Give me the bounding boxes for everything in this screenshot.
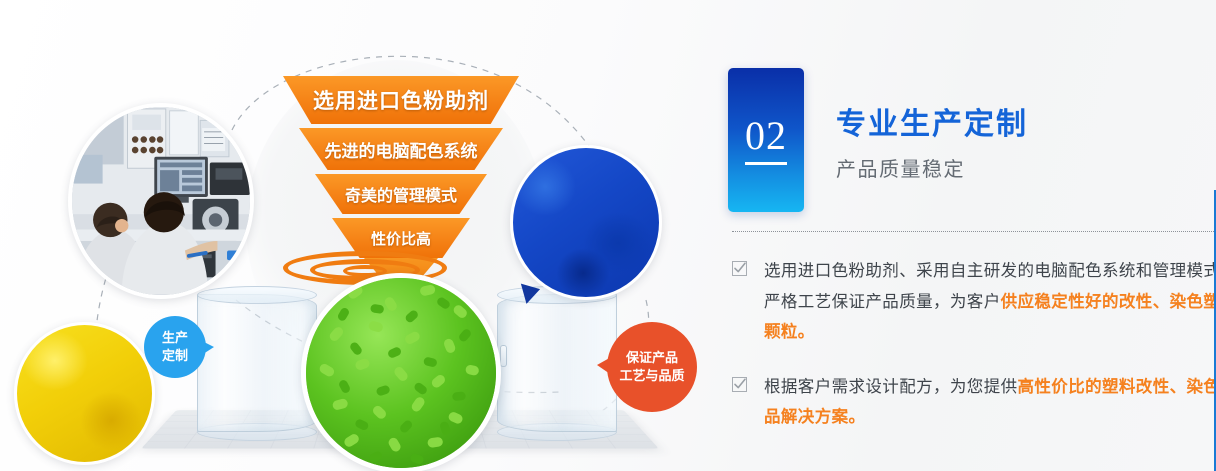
product-illustration: 选用进口色粉助剂 先进的电脑配色系统 奇美的管理模式 性价比高 [0, 0, 710, 471]
section-divider [732, 231, 1216, 232]
glass-cylinder-left [197, 294, 317, 432]
pellet-texture [306, 278, 496, 468]
checkbox-check-icon [732, 261, 747, 276]
content-panel: 02 专业生产定制 产品质量稳定 选用进口色粉助剂、采用自主研发的电脑配色系统和… [710, 0, 1216, 471]
funnel-layer-2: 先进的电脑配色系统 [299, 128, 503, 170]
funnel-layer-3: 奇美的管理模式 [315, 174, 487, 214]
green-plastic-pellets [301, 273, 501, 471]
bullet-2-line-1-seg-1: 根据客户需求设计配方，为您提供 [764, 378, 1018, 396]
feature-bullet-list: 选用进口色粉助剂、采用自主研发的电脑配色系统和管理模式， 严格工艺保证产品质量，… [732, 256, 1216, 457]
production-custom-callout: 生产 定制 [144, 316, 206, 378]
page-subtitle: 产品质量稳定 [836, 153, 1028, 182]
list-item: 选用进口色粉助剂、采用自主研发的电脑配色系统和管理模式， 严格工艺保证产品质量，… [732, 256, 1216, 348]
bullet-1-line-2-seg-2: 供应稳定性好的改性、染色塑料 [1001, 293, 1216, 311]
lab-technicians-photo [68, 103, 254, 299]
bullet-text-2: 根据客户需求设计配方，为您提供高性价比的塑料改性、染色产 品解决方案。 [764, 372, 1216, 433]
callout-line-2: 工艺与品质 [619, 367, 684, 385]
page-title: 专业生产定制 [836, 108, 1028, 143]
bullet-1-line-2-seg-1: 严格工艺保证产品质量，为客户 [764, 293, 1001, 311]
quality-guarantee-callout: 保证产品 工艺与品质 [607, 322, 697, 412]
lab-scene-graphic [72, 107, 250, 295]
callout-line-1: 保证产品 [626, 349, 678, 367]
bullet-text-1: 选用进口色粉助剂、采用自主研发的电脑配色系统和管理模式， 严格工艺保证产品质量，… [764, 256, 1216, 348]
callout-line-2: 定制 [162, 347, 188, 365]
callout-line-1: 生产 [162, 329, 188, 347]
blue-pigment-powder [510, 145, 662, 300]
bullet-2-line-1-seg-2: 高性价比的塑料改性、染色产 [1018, 378, 1216, 396]
header-text-group: 专业生产定制 产品质量稳定 [836, 68, 1028, 182]
list-item: 根据客户需求设计配方，为您提供高性价比的塑料改性、染色产 品解决方案。 [732, 372, 1216, 433]
promo-banner: 选用进口色粉助剂 先进的电脑配色系统 奇美的管理模式 性价比高 [0, 0, 1216, 471]
cylinder-handle-right [500, 345, 507, 367]
section-number-badge: 02 [728, 68, 804, 212]
panel-header: 02 专业生产定制 产品质量稳定 [728, 68, 1028, 212]
process-funnel: 选用进口色粉助剂 先进的电脑配色系统 奇美的管理模式 性价比高 [256, 62, 546, 262]
funnel-layer-1: 选用进口色粉助剂 [283, 76, 519, 124]
bullet-1-line-1-seg-1: 选用进口色粉助剂、采用自主研发的电脑配色系统和管理模式， [764, 262, 1216, 280]
checkbox-check-icon [732, 377, 747, 392]
yellow-pigment-powder [14, 322, 155, 465]
section-number: 02 [745, 116, 787, 165]
bullet-2-line-2-seg-1: 品解决方案。 [764, 408, 865, 426]
bullet-1-line-3-seg-1: 颗粒。 [764, 323, 815, 341]
